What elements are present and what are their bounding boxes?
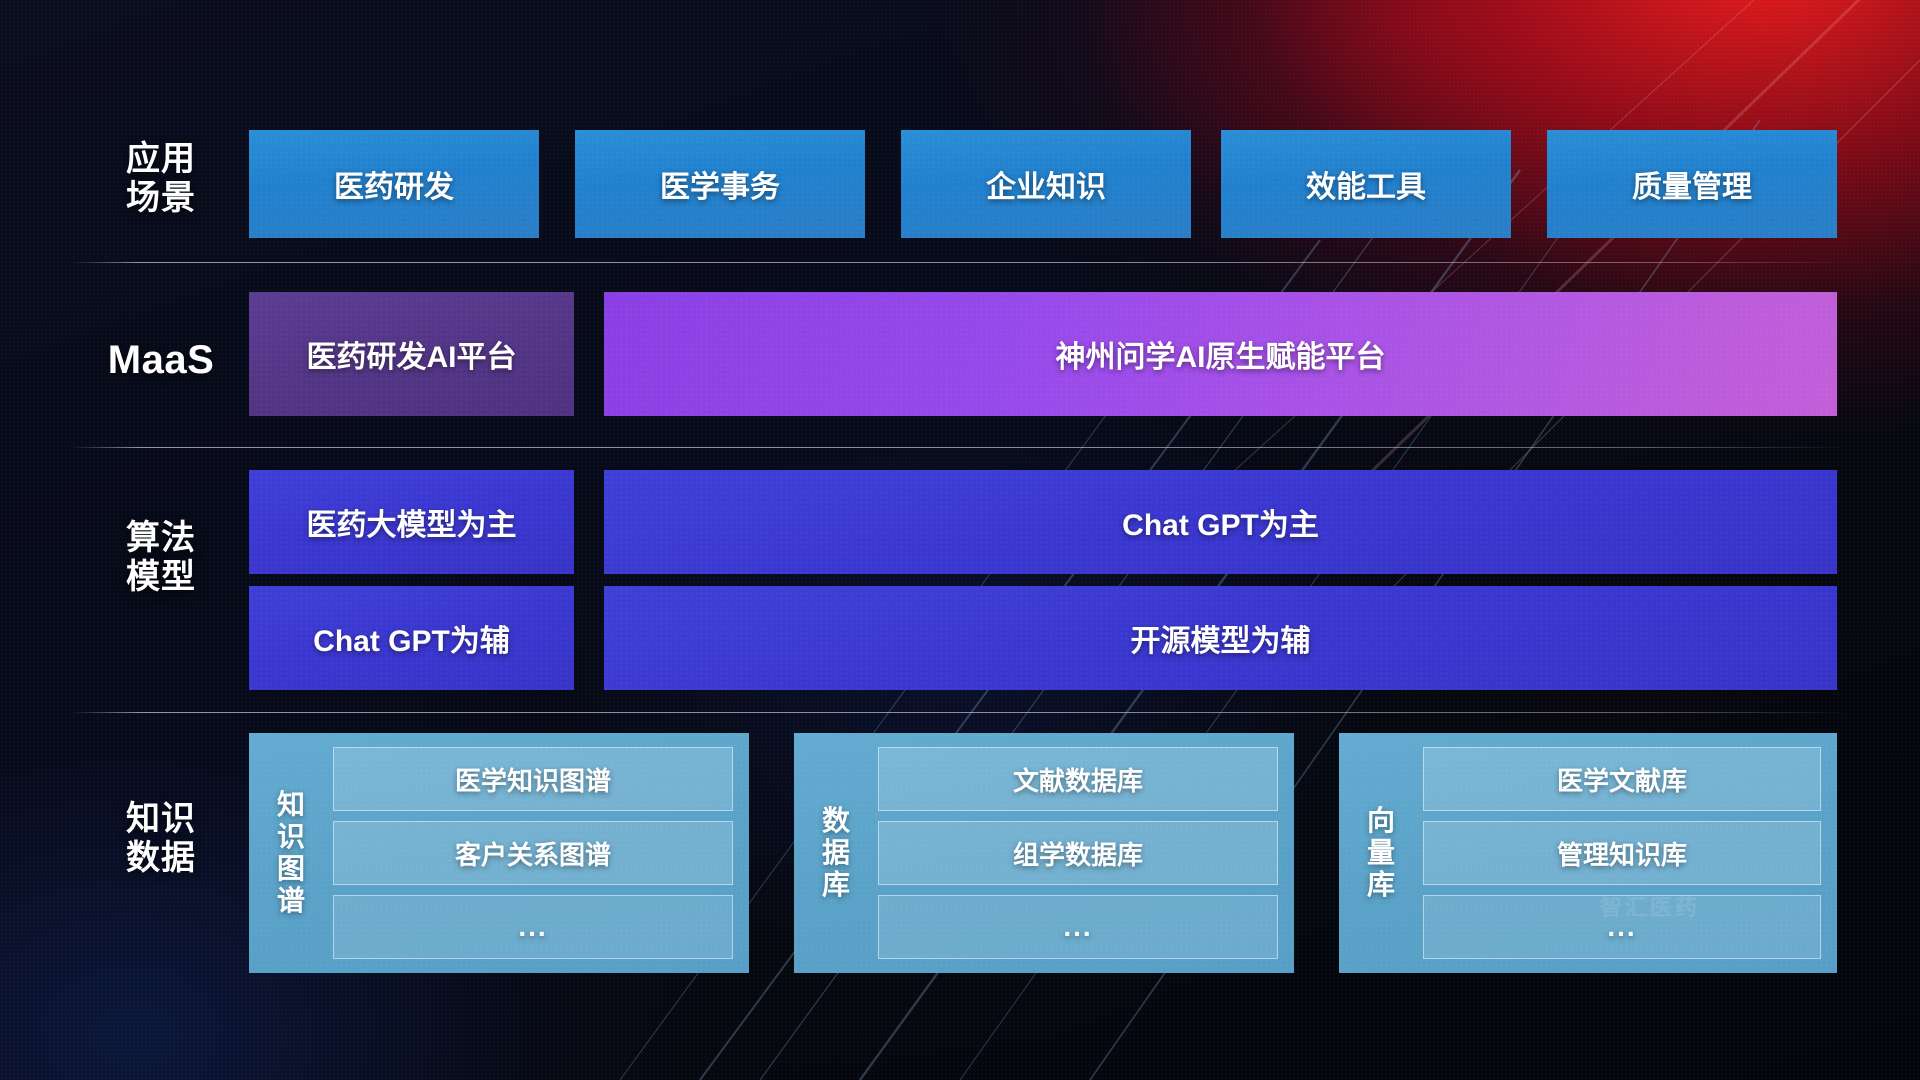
knowledge-panel-1[interactable]: 知 识 图 谱 医学知识图谱 客户关系图谱 ... (249, 733, 749, 973)
algo-row1-left-label: 医药大模型为主 (307, 500, 517, 544)
knowledge-panel-1-item-3[interactable]: ... (333, 895, 733, 959)
knowledge-panel-1-item-2[interactable]: 客户关系图谱 (333, 821, 733, 885)
knowledge-panel-3-item-2[interactable]: 管理知识库 (1423, 821, 1821, 885)
algo-row1-right-box[interactable]: Chat GPT为主 (604, 470, 1837, 574)
divider-maas-algorithm (70, 447, 1850, 448)
app-box-3[interactable]: 企业知识 (901, 130, 1191, 238)
tier-label-application-line2: 场景 (86, 179, 236, 218)
tier-label-knowledge-line2: 数据 (86, 839, 236, 878)
algo-row2-left-label: Chat GPT为辅 (313, 616, 510, 660)
tier-label-knowledge-line1: 知识 (86, 800, 236, 839)
tier-label-knowledge: 知识 数据 (86, 800, 236, 879)
knowledge-panel-1-items: 医学知识图谱 客户关系图谱 ... (333, 747, 733, 959)
knowledge-panel-3-items: 医学文献库 管理知识库 ... (1423, 747, 1821, 959)
knowledge-panel-2-items: 文献数据库 组学数据库 ... (878, 747, 1278, 959)
knowledge-panel-2-item-2[interactable]: 组学数据库 (878, 821, 1278, 885)
maas-left-box[interactable]: 医药研发AI平台 (249, 292, 574, 416)
diagram-canvas: 应用 场景 医药研发 医学事务 企业知识 效能工具 质量管理 MaaS 医药研发… (0, 0, 1920, 1080)
tier-label-maas: MaaS (86, 337, 236, 383)
divider-algorithm-knowledge (70, 712, 1850, 713)
knowledge-panel-3-item-1[interactable]: 医学文献库 (1423, 747, 1821, 811)
knowledge-panel-3[interactable]: 向 量 库 医学文献库 管理知识库 ... (1339, 733, 1837, 973)
app-box-5[interactable]: 质量管理 (1547, 130, 1837, 238)
algo-row1-right-label: Chat GPT为主 (1122, 500, 1319, 544)
maas-right-box[interactable]: 神州问学AI原生赋能平台 (604, 292, 1837, 416)
app-box-1-label: 医药研发 (334, 162, 454, 206)
knowledge-panel-1-item-1[interactable]: 医学知识图谱 (333, 747, 733, 811)
tier-label-algorithm-line1: 算法 (86, 519, 236, 558)
tier-label-application: 应用 场景 (86, 140, 236, 219)
tier-label-algorithm-line2: 模型 (86, 558, 236, 597)
app-box-5-label: 质量管理 (1632, 162, 1752, 206)
knowledge-panel-3-vlabel: 向 量 库 (1353, 747, 1409, 959)
app-box-4[interactable]: 效能工具 (1221, 130, 1511, 238)
app-box-2-label: 医学事务 (660, 162, 780, 206)
algo-row2-right-label: 开源模型为辅 (1131, 616, 1311, 660)
algo-row1-left-box[interactable]: 医药大模型为主 (249, 470, 574, 574)
knowledge-panel-1-vlabel: 知 识 图 谱 (263, 747, 319, 959)
tier-label-algorithm: 算法 模型 (86, 519, 236, 598)
app-box-1[interactable]: 医药研发 (249, 130, 539, 238)
algo-row2-left-box[interactable]: Chat GPT为辅 (249, 586, 574, 690)
knowledge-panel-3-item-3[interactable]: ... (1423, 895, 1821, 959)
app-box-3-label: 企业知识 (986, 162, 1106, 206)
divider-application-maas (70, 262, 1850, 263)
tier-label-application-line1: 应用 (86, 140, 236, 179)
tier-label-maas-text: MaaS (86, 337, 236, 383)
algo-row2-right-box[interactable]: 开源模型为辅 (604, 586, 1837, 690)
maas-right-box-label: 神州问学AI原生赋能平台 (1056, 332, 1386, 376)
app-box-2[interactable]: 医学事务 (575, 130, 865, 238)
knowledge-panel-2-vlabel: 数 据 库 (808, 747, 864, 959)
knowledge-panel-2-item-1[interactable]: 文献数据库 (878, 747, 1278, 811)
knowledge-panel-2[interactable]: 数 据 库 文献数据库 组学数据库 ... (794, 733, 1294, 973)
maas-left-box-label: 医药研发AI平台 (307, 332, 517, 376)
app-box-4-label: 效能工具 (1306, 162, 1426, 206)
knowledge-panel-2-item-3[interactable]: ... (878, 895, 1278, 959)
